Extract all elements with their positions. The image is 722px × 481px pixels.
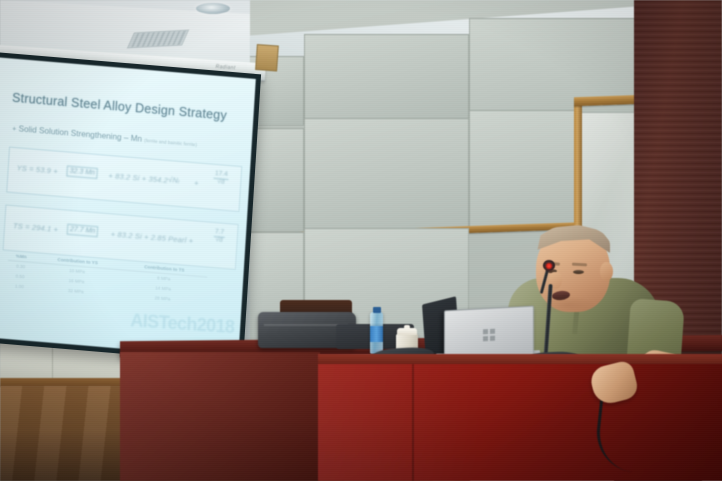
slide-bullet-text: Solid Solution Strengthening – Mn	[18, 124, 142, 143]
wall-panel	[304, 34, 469, 126]
air-vent-icon	[127, 30, 189, 49]
equation-ts-fraction: 7.7 √d	[213, 229, 225, 245]
equation-ts-highlight: 27.7 Mn	[67, 224, 99, 238]
slide-bullet-line: + Solid Solution Strengthening – Mn (fer…	[12, 124, 248, 153]
equation-ts-denominator: √d	[215, 236, 223, 244]
slide-title: Structural Steel Alloy Design Strategy	[12, 91, 242, 124]
screen-housing-endcap	[255, 44, 279, 71]
ear	[600, 262, 613, 281]
equation-ys-radical: √Nᵣ	[168, 175, 180, 185]
equation-ys-lead: YS = 53.9 +	[16, 163, 58, 175]
microsoft-logo-icon	[483, 329, 495, 342]
equation-ys-tail: + 83.2 Si + 354.2	[108, 171, 168, 185]
equation-ys-plus: +	[194, 178, 199, 187]
podium-seam	[412, 364, 414, 481]
equation-ts-lead: TS = 294.1 +	[13, 221, 59, 234]
equation-ys-highlight: 32.3 Mn	[66, 165, 98, 179]
water-bottle	[370, 312, 383, 354]
slide-bullet-subnote: (ferrite and bainitic ferrite)	[144, 138, 197, 147]
slide-watermark: AISTech2018	[130, 310, 235, 338]
wall-panel	[304, 118, 469, 232]
slide-surface: Structural Steel Alloy Design Strategy +…	[0, 57, 256, 358]
bottle-cap	[373, 307, 381, 313]
equation-box-ys: YS = 53.9 + 32.3 Mn + 83.2 Si + 354.2 √N…	[6, 147, 242, 212]
wall-panel	[469, 110, 579, 230]
eye	[573, 270, 584, 274]
microphone-led-icon	[546, 263, 552, 269]
projection-screen: Structural Steel Alloy Design Strategy +…	[0, 52, 261, 364]
bullet-marker-icon: +	[12, 126, 17, 133]
cup-lid	[397, 328, 417, 335]
table-cell: 1.00	[6, 280, 33, 292]
presentation-photo-scene: Radiant Structural Steel Alloy Design St…	[0, 0, 722, 481]
bottle-label	[370, 326, 383, 342]
equation-ts-tail: + 83.2 Si + 2.85 Pearl +	[111, 229, 194, 245]
table-front-panel	[120, 352, 320, 481]
downlight-icon	[196, 3, 230, 14]
wall-panel	[250, 128, 304, 232]
cup-lid-knob	[404, 325, 410, 329]
equation-ys-fraction: 17.4 √d	[213, 171, 229, 187]
equation-ys-denominator: √d	[217, 178, 225, 186]
